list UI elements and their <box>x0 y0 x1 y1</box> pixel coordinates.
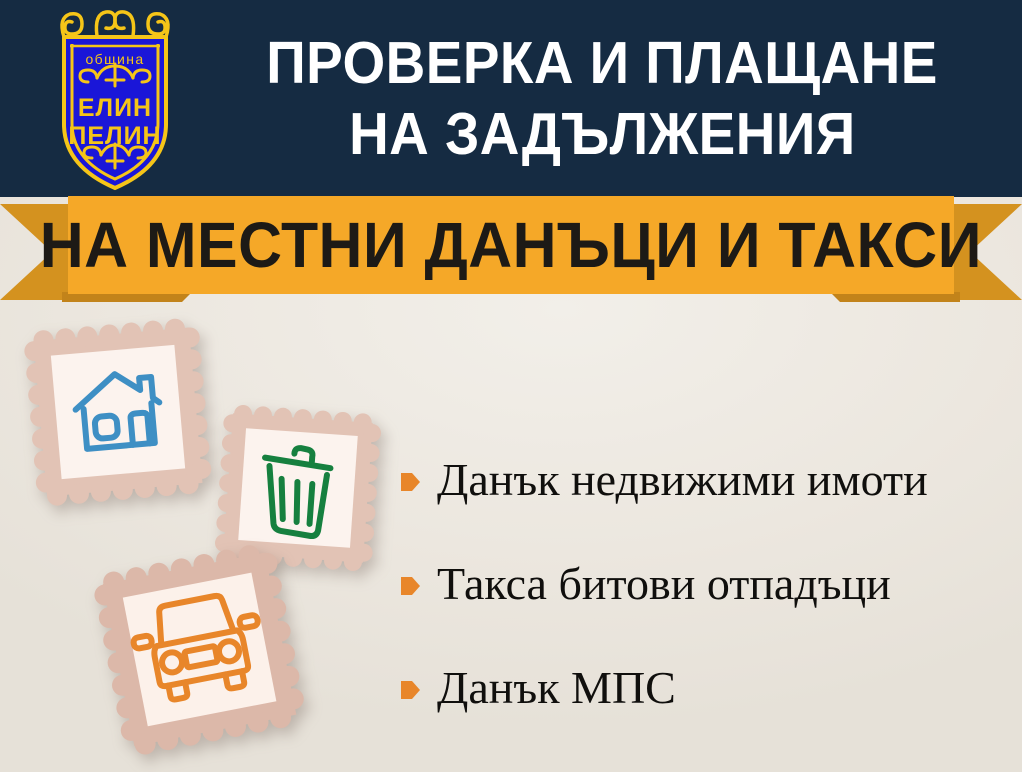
card-car <box>92 542 307 757</box>
arrow-bullet-icon <box>401 679 420 701</box>
list-item[interactable]: Данък недвижими имоти <box>401 428 1013 532</box>
tax-types-list: Данък недвижими имоти Такса битови отпад… <box>401 428 1013 740</box>
arrow-bullet-icon <box>401 575 420 597</box>
svg-text:ЕЛИН: ЕЛИН <box>78 94 152 122</box>
arrow-bullet-icon <box>401 471 420 493</box>
subtitle-ribbon: НА МЕСТНИ ДАНЪЦИ И ТАКСИ <box>0 196 1022 300</box>
title-line-1: ПРОВЕРКА И ПЛАЩАНЕ <box>266 28 938 99</box>
list-item[interactable]: Данък МПС <box>401 636 1013 740</box>
list-item-label: Данък МПС <box>437 664 676 712</box>
ribbon-band: НА МЕСТНИ ДАНЪЦИ И ТАКСИ <box>68 196 954 294</box>
list-item[interactable]: Такса битови отпадъци <box>401 532 1013 636</box>
title-line-2: НА ЗАДЪЛЖЕНИЯ <box>349 99 856 170</box>
municipality-crest-logo: община ЕЛИН ПЕЛИН <box>44 6 186 192</box>
list-item-label: Данък недвижими имоти <box>437 456 928 504</box>
poster-title: ПРОВЕРКА И ПЛАЩАНЕ НА ЗАДЪЛЖЕНИЯ <box>196 14 1008 184</box>
poster-root: община ЕЛИН ПЕЛИН ПРОВЕ <box>0 0 1022 772</box>
card-house <box>18 312 218 512</box>
list-item-label: Такса битови отпадъци <box>437 560 891 608</box>
ribbon-label: НА МЕСТНИ ДАНЪЦИ И ТАКСИ <box>40 213 982 277</box>
